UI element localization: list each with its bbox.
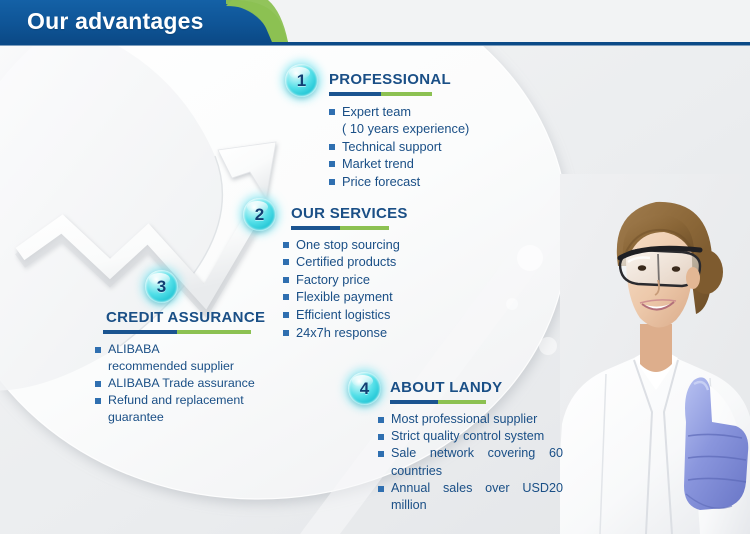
badge-number-1-label: 1 bbox=[297, 72, 306, 89]
list-item-label: Technical support bbox=[342, 139, 442, 154]
list-item-label: recommended supplier bbox=[108, 359, 234, 373]
badge-number-4-label: 4 bbox=[360, 380, 369, 397]
list-item-label: Annual sales over USD20 million bbox=[391, 481, 563, 512]
list-item-label: Factory price bbox=[296, 272, 370, 287]
badge-number-2: 2 bbox=[243, 198, 276, 231]
section-about-landy: 4 ABOUT LANDY Most professional supplier… bbox=[348, 368, 563, 515]
section-3-title: CREDIT ASSURANCE bbox=[95, 310, 285, 327]
lab-technician-thumbs-up-photo bbox=[560, 174, 750, 534]
section-4-head: ABOUT LANDY bbox=[390, 368, 563, 404]
section-credit-assurance: 3 CREDIT ASSURANCE ALIBABA recommended s… bbox=[95, 270, 285, 426]
bullet-icon bbox=[378, 451, 384, 457]
list-item: Expert team bbox=[329, 103, 515, 121]
list-item-label: Strict quality control system bbox=[391, 429, 544, 443]
badge-number-1: 1 bbox=[285, 64, 318, 97]
section-1-underline bbox=[329, 92, 432, 96]
list-item-label: Market trend bbox=[342, 156, 414, 171]
list-item-label: ALIBABA bbox=[108, 342, 160, 356]
section-3-head: CREDIT ASSURANCE bbox=[95, 310, 285, 334]
list-item: Sale network covering 60 countries bbox=[378, 445, 563, 480]
section-professional: 1 PROFESSIONAL Expert team ( 10 years ex… bbox=[285, 62, 515, 191]
bullet-icon bbox=[283, 242, 289, 248]
section-1-head: PROFESSIONAL bbox=[329, 62, 515, 96]
list-item-label: guarantee bbox=[108, 410, 164, 424]
section-4-list: Most professional supplier Strict qualit… bbox=[378, 411, 563, 515]
bullet-icon bbox=[329, 179, 335, 185]
bullet-icon bbox=[378, 417, 384, 423]
page-header: Our advantages bbox=[0, 0, 750, 46]
list-item: Technical support bbox=[329, 138, 515, 156]
bullet-icon bbox=[95, 347, 101, 353]
list-item: Efficient logistics bbox=[283, 306, 473, 324]
section-3-underline bbox=[103, 330, 251, 334]
bullet-icon bbox=[378, 434, 384, 440]
bullet-icon bbox=[378, 486, 384, 492]
badge-number-2-label: 2 bbox=[255, 206, 264, 223]
section-2-underline bbox=[291, 226, 389, 230]
badge-number-4: 4 bbox=[348, 372, 381, 405]
list-item: Annual sales over USD20 million bbox=[378, 480, 563, 515]
section-4-title: ABOUT LANDY bbox=[390, 380, 563, 397]
list-item: Market trend bbox=[329, 155, 515, 173]
section-4-underline bbox=[390, 400, 486, 404]
list-item: Flexible payment bbox=[283, 288, 473, 306]
list-item-label: Efficient logistics bbox=[296, 307, 390, 322]
list-item-label: ( 10 years experience) bbox=[342, 121, 469, 136]
advantages-page: Our advantages 1 PROFESSIONAL Expert tea… bbox=[0, 0, 750, 534]
bullet-icon bbox=[329, 161, 335, 167]
list-item-label: Sale network covering 60 countries bbox=[391, 446, 563, 477]
list-item: Factory price bbox=[283, 271, 473, 289]
list-item-label: Price forecast bbox=[342, 174, 420, 189]
list-item: recommended supplier bbox=[95, 358, 285, 375]
list-item: ( 10 years experience) bbox=[329, 120, 515, 138]
bullet-icon bbox=[329, 144, 335, 150]
list-item: Most professional supplier bbox=[378, 411, 563, 428]
section-2-list: One stop sourcing Certified products Fac… bbox=[283, 236, 473, 342]
list-item-label: Certified products bbox=[296, 254, 396, 269]
list-item: Refund and replacement bbox=[95, 392, 285, 409]
list-item: Strict quality control system bbox=[378, 428, 563, 445]
list-item-label: 24x7h response bbox=[296, 325, 387, 340]
page-title: Our advantages bbox=[27, 8, 204, 35]
list-item-label: Expert team bbox=[342, 104, 411, 119]
bullet-icon bbox=[95, 381, 101, 387]
badge-number-3-label: 3 bbox=[157, 278, 166, 295]
list-item-label: ALIBABA Trade assurance bbox=[108, 376, 255, 390]
section-2-head: OUR SERVICES bbox=[291, 196, 473, 230]
bullet-icon bbox=[283, 259, 289, 265]
list-item: 24x7h response bbox=[283, 324, 473, 342]
list-item: ALIBABA bbox=[95, 341, 285, 358]
section-2-title: OUR SERVICES bbox=[291, 206, 473, 223]
section-1-list: Expert team ( 10 years experience) Techn… bbox=[329, 103, 515, 191]
list-item: ALIBABA Trade assurance bbox=[95, 375, 285, 392]
bullet-icon bbox=[329, 109, 335, 115]
badge-number-3: 3 bbox=[145, 270, 178, 303]
list-item-label: Most professional supplier bbox=[391, 412, 537, 426]
section-1-title: PROFESSIONAL bbox=[329, 72, 515, 89]
list-item: One stop sourcing bbox=[283, 236, 473, 254]
list-item-label: Refund and replacement bbox=[108, 393, 244, 407]
section-3-list: ALIBABA recommended supplier ALIBABA Tra… bbox=[95, 341, 285, 427]
bullet-icon bbox=[95, 398, 101, 404]
list-item-label: One stop sourcing bbox=[296, 237, 400, 252]
list-item-label: Flexible payment bbox=[296, 289, 393, 304]
list-item: Price forecast bbox=[329, 173, 515, 191]
list-item: Certified products bbox=[283, 253, 473, 271]
list-item: guarantee bbox=[95, 409, 285, 426]
